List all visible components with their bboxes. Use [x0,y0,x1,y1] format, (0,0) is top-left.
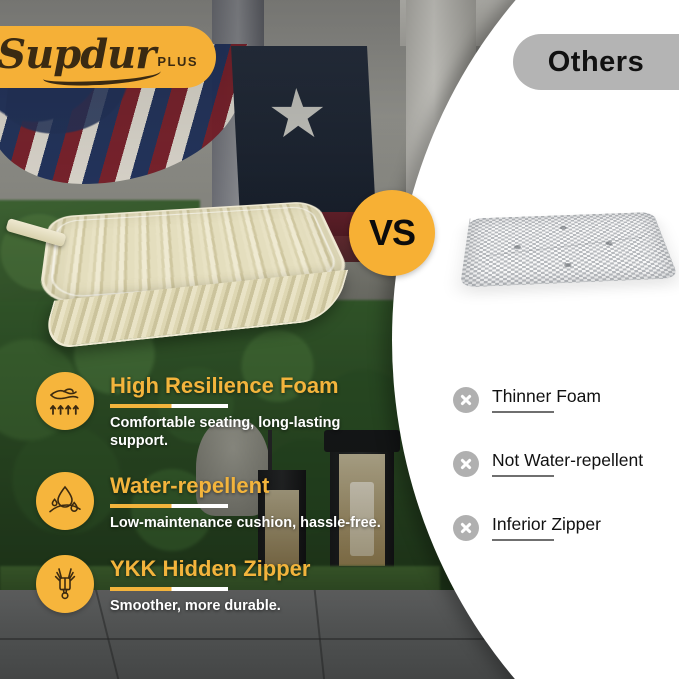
feature-item: YKK Hidden Zipper Smoother, more durable… [36,555,388,616]
feature-item: Water-repellent Low-maintenance cushion,… [36,472,388,533]
con-title: Inferior Zipper [492,514,601,534]
feature-list: High Resilience Foam Comfortable seating… [36,372,388,637]
vs-badge: VS [349,190,435,276]
feature-underline [110,587,228,591]
feature-title: Water-repellent [110,474,381,498]
cons-list: Thinner Foam Not Water-repellent [453,386,679,578]
con-title: Thinner Foam [492,386,601,406]
others-badge: Others [513,34,679,90]
con-underline [492,539,554,541]
x-circle-icon [453,387,479,413]
brand-swoosh-icon [43,63,162,87]
water-droplet-icon [36,472,94,530]
feature-subtitle: Comfortable seating, long-lasting suppor… [110,415,388,450]
brand-suffix: PLUS [157,54,198,69]
others-label: Others [548,46,644,79]
con-item: Inferior Zipper [453,514,679,541]
x-circle-icon [453,451,479,477]
x-circle-icon [453,515,479,541]
competitor-cushion [460,212,679,287]
vs-label: VS [369,212,415,254]
con-underline [492,475,554,477]
con-item: Thinner Foam [453,386,679,413]
con-title: Not Water-repellent [492,450,643,470]
feature-item: High Resilience Foam Comfortable seating… [36,372,388,450]
feature-title: YKK Hidden Zipper [110,557,310,581]
feature-underline [110,404,228,408]
brand-logo: Supdur PLUS [0,26,216,88]
comparison-infographic: Supdur PLUS Others VS [0,0,679,679]
feature-subtitle: Low-maintenance cushion, hassle-free. [110,515,381,532]
zipper-icon [36,555,94,613]
con-underline [492,411,554,413]
con-item: Not Water-repellent [453,450,679,477]
feature-subtitle: Smoother, more durable. [110,598,310,615]
feature-title: High Resilience Foam [110,374,388,398]
foam-resilience-icon [36,372,94,430]
feature-underline [110,504,228,508]
